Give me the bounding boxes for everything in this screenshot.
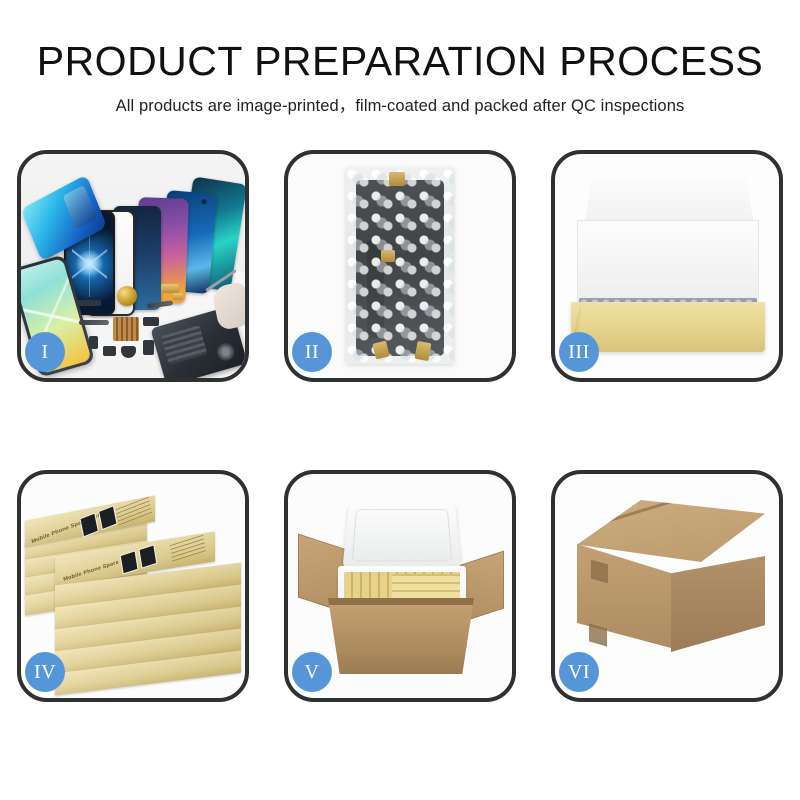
process-step-3: III	[551, 150, 783, 382]
step-badge-5: V	[292, 652, 332, 692]
connector-bar-icon	[77, 300, 101, 306]
small-part-icon	[103, 346, 116, 356]
process-step-6: VI	[551, 470, 783, 702]
step-badge-1: I	[25, 332, 65, 372]
small-part-icon	[143, 317, 159, 326]
carton-seam-icon	[577, 500, 765, 562]
page-subtitle: All products are image-printed，film-coat…	[0, 92, 800, 116]
page-title: PRODUCT PREPARATION PROCESS	[0, 40, 800, 83]
step-badge-2: II	[292, 332, 332, 372]
step-badge-4: IV	[25, 652, 65, 692]
carton-body-icon	[328, 598, 474, 674]
flex-cable-icon	[79, 320, 109, 325]
product-preparation-infographic: PRODUCT PREPARATION PROCESS All products…	[0, 0, 800, 800]
process-step-4: Mobile Phone Spare Parts Mobile Phone Sp…	[17, 470, 249, 702]
gold-contact-icon	[161, 284, 179, 293]
process-step-2: II	[284, 150, 516, 382]
tape-icon	[389, 172, 405, 186]
kraft-box-body-icon	[571, 302, 765, 352]
header: PRODUCT PREPARATION PROCESS All products…	[0, 40, 800, 116]
chip-grid-icon	[113, 317, 139, 341]
small-part-icon	[89, 336, 98, 349]
bubble-texture	[346, 168, 454, 364]
process-step-grid: I II III	[17, 150, 783, 725]
bubble-wrap-bag-icon	[346, 168, 454, 364]
process-step-1: I	[17, 150, 249, 382]
speaker-coil-icon	[117, 286, 137, 306]
tape-icon	[381, 250, 395, 262]
carton-tape-icon	[589, 623, 607, 646]
carton-right-face-icon	[671, 556, 765, 652]
process-step-5: V	[284, 470, 516, 702]
step-badge-6: VI	[559, 652, 599, 692]
foam-sheet-icon	[577, 220, 759, 306]
small-part-icon	[143, 340, 154, 355]
step-badge-3: III	[559, 332, 599, 372]
gold-contact-icon	[173, 293, 183, 300]
foam-box-lid-icon	[342, 503, 461, 570]
